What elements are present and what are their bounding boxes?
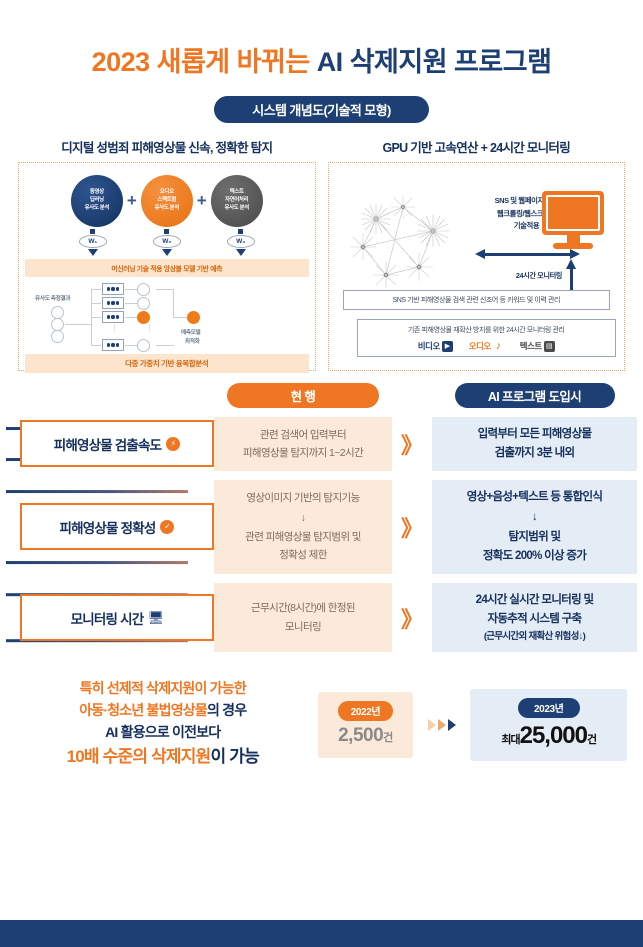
row-label-text: 피해영상물 검출속도 — [54, 434, 162, 454]
weight-box — [102, 283, 124, 295]
connector-line — [91, 289, 101, 290]
square-marker-icon — [238, 229, 243, 234]
sns-keyword-box: SNS 기반 피해영상물 검색 관련 신조어 등 키워드 및 이력 관리 — [343, 290, 611, 310]
connector-line — [125, 289, 137, 290]
connector-line — [173, 317, 187, 318]
triple-arrow-icon — [421, 719, 462, 731]
vertical-ellipsis: ⋮ — [146, 324, 153, 332]
row-label-wrap: 모니터링 시간 🖥 — [6, 583, 214, 653]
after-subnote: (근무시간외 재확산 위험성↓) — [484, 629, 585, 645]
fusion-band-label: 다중 가중치 기반 융복합분석 — [25, 354, 309, 373]
plus-icon-2: + — [197, 191, 207, 211]
connector-line — [156, 345, 174, 346]
connector-line — [91, 345, 101, 346]
row-label-text: 피해영상물 정확성 — [60, 517, 156, 537]
current-cell: 영상이미지 기반의 탐지기능 ↓ 관련 피해영상물 탐지범위 및 정확성 제한 — [214, 480, 392, 574]
system-concept-pill: 시스템 개념도(기술적 모형) — [214, 96, 429, 123]
current-line: 모니터링 — [285, 618, 321, 636]
weight-box — [102, 339, 124, 351]
current-line: 영상이미지 기반의 탐지기능 — [246, 489, 359, 507]
row-label-text: 모니터링 시간 — [71, 608, 144, 628]
comparison-row-monitoring: 모니터링 시간 🖥 근무시간(8시간)에 한정된 모니터링 》 24시간 실시간… — [6, 583, 637, 653]
current-line: 근무시간(8시간)에 한정된 — [251, 599, 355, 617]
bottom-line-2: 아동·청소년 불법영상물의 경우 — [16, 700, 310, 722]
bottom-line-4-a: 10배 수준의 삭제지원 — [67, 747, 211, 766]
chevron-right-icon: 》 — [392, 583, 432, 653]
weight-cell-2: W₂ — [141, 229, 193, 256]
connector-line — [91, 303, 101, 304]
after-line: 24시간 실시간 모니터링 및 — [476, 591, 594, 610]
stat-2022: 2022년 2,500건 — [318, 692, 414, 758]
current-line: 관련 피해영상물 탐지범위 및 — [245, 528, 361, 546]
ml-band-label: 머신러닝 기술 적용 앙상블 모델 기반 예측 — [25, 259, 309, 277]
current-cell: 근무시간(8시간)에 한정된 모니터링 — [214, 583, 392, 653]
circle-line-3: 유사도 분석 — [155, 205, 180, 213]
left-diagram-box: 동영상 딥러닝 유사도 분석 + 오디오 스펙트럼 유사도 분석 + 텍스트 자… — [18, 162, 316, 371]
stat-2023-value: 25,000 — [520, 722, 587, 749]
left-diagram-heading: 디지털 성범죄 피해영상물 신속, 정확한 탐지 — [18, 137, 316, 156]
chevron-right-icon: 》 — [392, 480, 432, 574]
stat-2023-value-wrap: 최대25,000건 — [501, 722, 596, 750]
analysis-circle-row: 동영상 딥러닝 유사도 분석 + 오디오 스펙트럼 유사도 분석 + 텍스트 자… — [25, 175, 309, 227]
circle-line-1: 동영상 — [90, 189, 104, 197]
hidden-node — [137, 297, 150, 310]
monitoring-caption: 24시간 모니터링 — [516, 271, 562, 281]
neural-network-diagram: 유사도 측정결과 ⋮ — [29, 280, 305, 352]
bottom-summary-section: 특히 선제적 삭제지원이 가능한 아동·청소년 불법영상물의 경우 AI 활용으… — [0, 678, 643, 770]
after-line: 영상+음성+텍스트 등 통합인식 — [467, 488, 603, 507]
arrow-down-icon: ↓ — [532, 508, 537, 527]
sns-monitoring-text: 기존 피해영상물 재확산 방지를 위한 24시간 모니터링 관리 — [360, 325, 614, 335]
current-line: 관련 검색어 입력부터 — [260, 426, 346, 444]
connector-line — [125, 303, 137, 304]
circle-line-1: 텍스트 — [230, 189, 244, 197]
header-current-pill: 현 행 — [227, 383, 379, 408]
circle-audio-spectrum: 오디오 스펙트럼 유사도 분석 — [141, 175, 193, 227]
media-text: 텍스트 ▤ — [520, 340, 555, 352]
comparison-header-row: 현 행 AI 프로그램 도입시 — [6, 383, 637, 408]
hidden-node-active — [137, 311, 150, 324]
current-line: 피해영상물 탐지까지 1~2시간 — [243, 444, 363, 462]
bottom-line-1: 특히 선제적 삭제지원이 가능한 — [16, 678, 310, 700]
connector-line — [125, 345, 137, 346]
document-icon: ▤ — [544, 341, 555, 352]
predict-model-label-2: 최적화 — [185, 337, 200, 345]
connector-line — [91, 317, 101, 318]
input-node — [51, 330, 64, 343]
vertical-ellipsis: ⋮ — [111, 324, 118, 332]
current-line: 정확성 제한 — [279, 546, 327, 564]
circle-video-deeplearning: 동영상 딥러닝 유사도 분석 — [71, 175, 123, 227]
bottom-line-2-a: 아동·청소년 불법영상물 — [79, 702, 207, 718]
stat-2022-year: 2022년 — [338, 701, 393, 721]
title-orange-part: 2023 새롭게 바뀌는 — [92, 47, 310, 77]
bottom-line-4-b: 이 가능 — [210, 747, 258, 766]
weight-box — [102, 297, 124, 309]
right-diagram: GPU 기반 고속연산 + 24시간 모니터링 — [328, 137, 626, 371]
bottom-line-3: AI 활용으로 이전보다 — [16, 722, 310, 744]
connector-line — [173, 289, 174, 318]
stat-2023-unit: 건 — [587, 734, 596, 746]
chevron-right-icon: 》 — [392, 417, 432, 471]
circle-text-nlp: 텍스트 자연어처리 유사도 분석 — [211, 175, 263, 227]
arrow-down-icon: ↓ — [301, 509, 306, 527]
predict-model-label-1: 예측모델 — [181, 328, 200, 336]
after-line: 검출까지 3분 내외 — [495, 444, 575, 463]
square-marker-icon — [164, 229, 169, 234]
bidirectional-arrow-horizontal-icon — [475, 249, 580, 259]
circle-line-2: 딥러닝 — [90, 197, 104, 205]
media-audio-label: 오디오 — [469, 340, 491, 352]
right-diagram-heading: GPU 기반 고속연산 + 24시간 모니터링 — [328, 137, 626, 156]
left-diagram: 디지털 성범죄 피해영상물 신속, 정확한 탐지 동영상 딥러닝 유사도 분석 … — [18, 137, 316, 371]
row-label-wrap: 피해영상물 검출속도 ⚡ — [6, 417, 214, 471]
circle-line-3: 유사도 분석 — [224, 205, 249, 213]
square-marker-icon — [90, 229, 95, 234]
bottom-text-block: 특히 선제적 삭제지원이 가능한 아동·청소년 불법영상물의 경우 AI 활용으… — [16, 678, 310, 770]
arrow-down-icon — [236, 249, 246, 256]
stat-2022-value-wrap: 2,500건 — [338, 725, 393, 747]
video-icon: ▶ — [442, 341, 453, 352]
bottom-line-4: 10배 수준의 삭제지원이 가능 — [16, 744, 310, 770]
row-label-box: 피해영상물 정확성 ✓ — [20, 503, 214, 550]
after-cell: 영상+음성+텍스트 등 통합인식 ↓ 탐지범위 및 정확도 200% 이상 증가 — [432, 480, 637, 574]
sns-monitoring-box: 기존 피해영상물 재확산 방지를 위한 24시간 모니터링 관리 비디오 ▶ 오… — [357, 319, 617, 357]
diagram-area: 디지털 성범죄 피해영상물 신속, 정확한 탐지 동영상 딥러닝 유사도 분석 … — [0, 137, 643, 371]
weight-spacer — [197, 229, 211, 256]
footer-bar — [0, 920, 643, 947]
stat-2023-prefix: 최대 — [501, 734, 519, 746]
music-note-icon: ♪ — [493, 341, 504, 352]
circle-line-3: 유사도 분석 — [85, 205, 110, 213]
media-video-label: 비디오 — [418, 340, 440, 352]
arrow-down-icon — [88, 249, 98, 256]
circle-line-2: 스펙트럼 — [157, 197, 176, 205]
after-line: 탐지범위 및 — [509, 528, 561, 547]
circle-line-2: 자연어처리 — [225, 197, 248, 205]
connector-line — [65, 324, 91, 325]
current-cell: 관련 검색어 입력부터 피해영상물 탐지까지 1~2시간 — [214, 417, 392, 471]
row-label-box: 모니터링 시간 🖥 — [20, 594, 214, 641]
check-icon: ✓ — [160, 520, 174, 534]
weight-spacer — [123, 229, 137, 256]
connector-line — [156, 289, 174, 290]
lightning-icon: ⚡ — [166, 437, 180, 451]
stat-2022-value: 2,500 — [338, 725, 383, 746]
row-label-box: 피해영상물 검출속도 ⚡ — [20, 420, 214, 467]
after-line: 입력부터 모든 피해영상물 — [478, 425, 592, 444]
infographic-page: 2023 새롭게 바뀌는 AI 삭제지원 프로그램 시스템 개념도(기술적 모형… — [0, 40, 643, 947]
monitor-icon — [542, 191, 604, 249]
bottom-line-2-b: 의 경우 — [207, 702, 246, 718]
similarity-result-label: 유사도 측정결과 — [35, 294, 70, 302]
stat-2022-unit: 건 — [383, 732, 393, 744]
plus-icon-1: + — [127, 191, 137, 211]
after-line: 자동추적 시스템 구축 — [488, 610, 582, 629]
title-navy-part: AI 삭제지원 프로그램 — [317, 47, 552, 77]
right-diagram-box: SNS 및 웹페이지 대상 웹크롤링/웹스크래핑 기술적용 — [328, 162, 626, 371]
comparison-section: 현 행 AI 프로그램 도입시 피해영상물 검출속도 ⚡ 관련 검색어 입력부터… — [0, 383, 643, 652]
header-ai-pill: AI 프로그램 도입시 — [455, 383, 615, 408]
hidden-node — [137, 339, 150, 352]
weight-label-2: W₂ — [153, 235, 181, 248]
output-node-active — [187, 311, 200, 324]
arrow-down-icon — [162, 249, 172, 256]
media-audio: 오디오 ♪ — [469, 340, 504, 352]
comparison-row-accuracy: 피해영상물 정확성 ✓ 영상이미지 기반의 탐지기능 ↓ 관련 피해영상물 탐지… — [6, 480, 637, 574]
stat-2023: 2023년 최대25,000건 — [470, 689, 627, 761]
weight-cell-1: W₁ — [67, 229, 119, 256]
weight-cell-3: W₃ — [215, 229, 267, 256]
circle-line-1: 오디오 — [160, 189, 174, 197]
hidden-node — [137, 283, 150, 296]
after-cell: 입력부터 모든 피해영상물 검출까지 3분 내외 — [432, 417, 637, 471]
media-text-label: 텍스트 — [520, 340, 542, 352]
weight-label-1: W₁ — [79, 235, 107, 248]
monitor-icon: 🖥 — [148, 611, 163, 625]
after-line: 정확도 200% 이상 증가 — [483, 547, 586, 566]
media-video: 비디오 ▶ — [418, 340, 453, 352]
weight-label-3: W₃ — [227, 235, 255, 248]
weight-box — [102, 311, 124, 323]
media-type-row: 비디오 ▶ 오디오 ♪ 텍스트 ▤ — [360, 340, 614, 352]
comparison-row-speed: 피해영상물 검출속도 ⚡ 관련 검색어 입력부터 피해영상물 탐지까지 1~2시… — [6, 417, 637, 471]
page-title: 2023 새롭게 바뀌는 AI 삭제지원 프로그램 — [0, 40, 643, 79]
after-cell: 24시간 실시간 모니터링 및 자동추적 시스템 구축 (근무시간외 재확산 위… — [432, 583, 637, 653]
weight-row: W₁ W₂ W₃ — [25, 229, 309, 256]
row-label-wrap: 피해영상물 정확성 ✓ — [6, 480, 214, 574]
connector-line — [125, 317, 137, 318]
stat-2023-year: 2023년 — [518, 698, 580, 718]
